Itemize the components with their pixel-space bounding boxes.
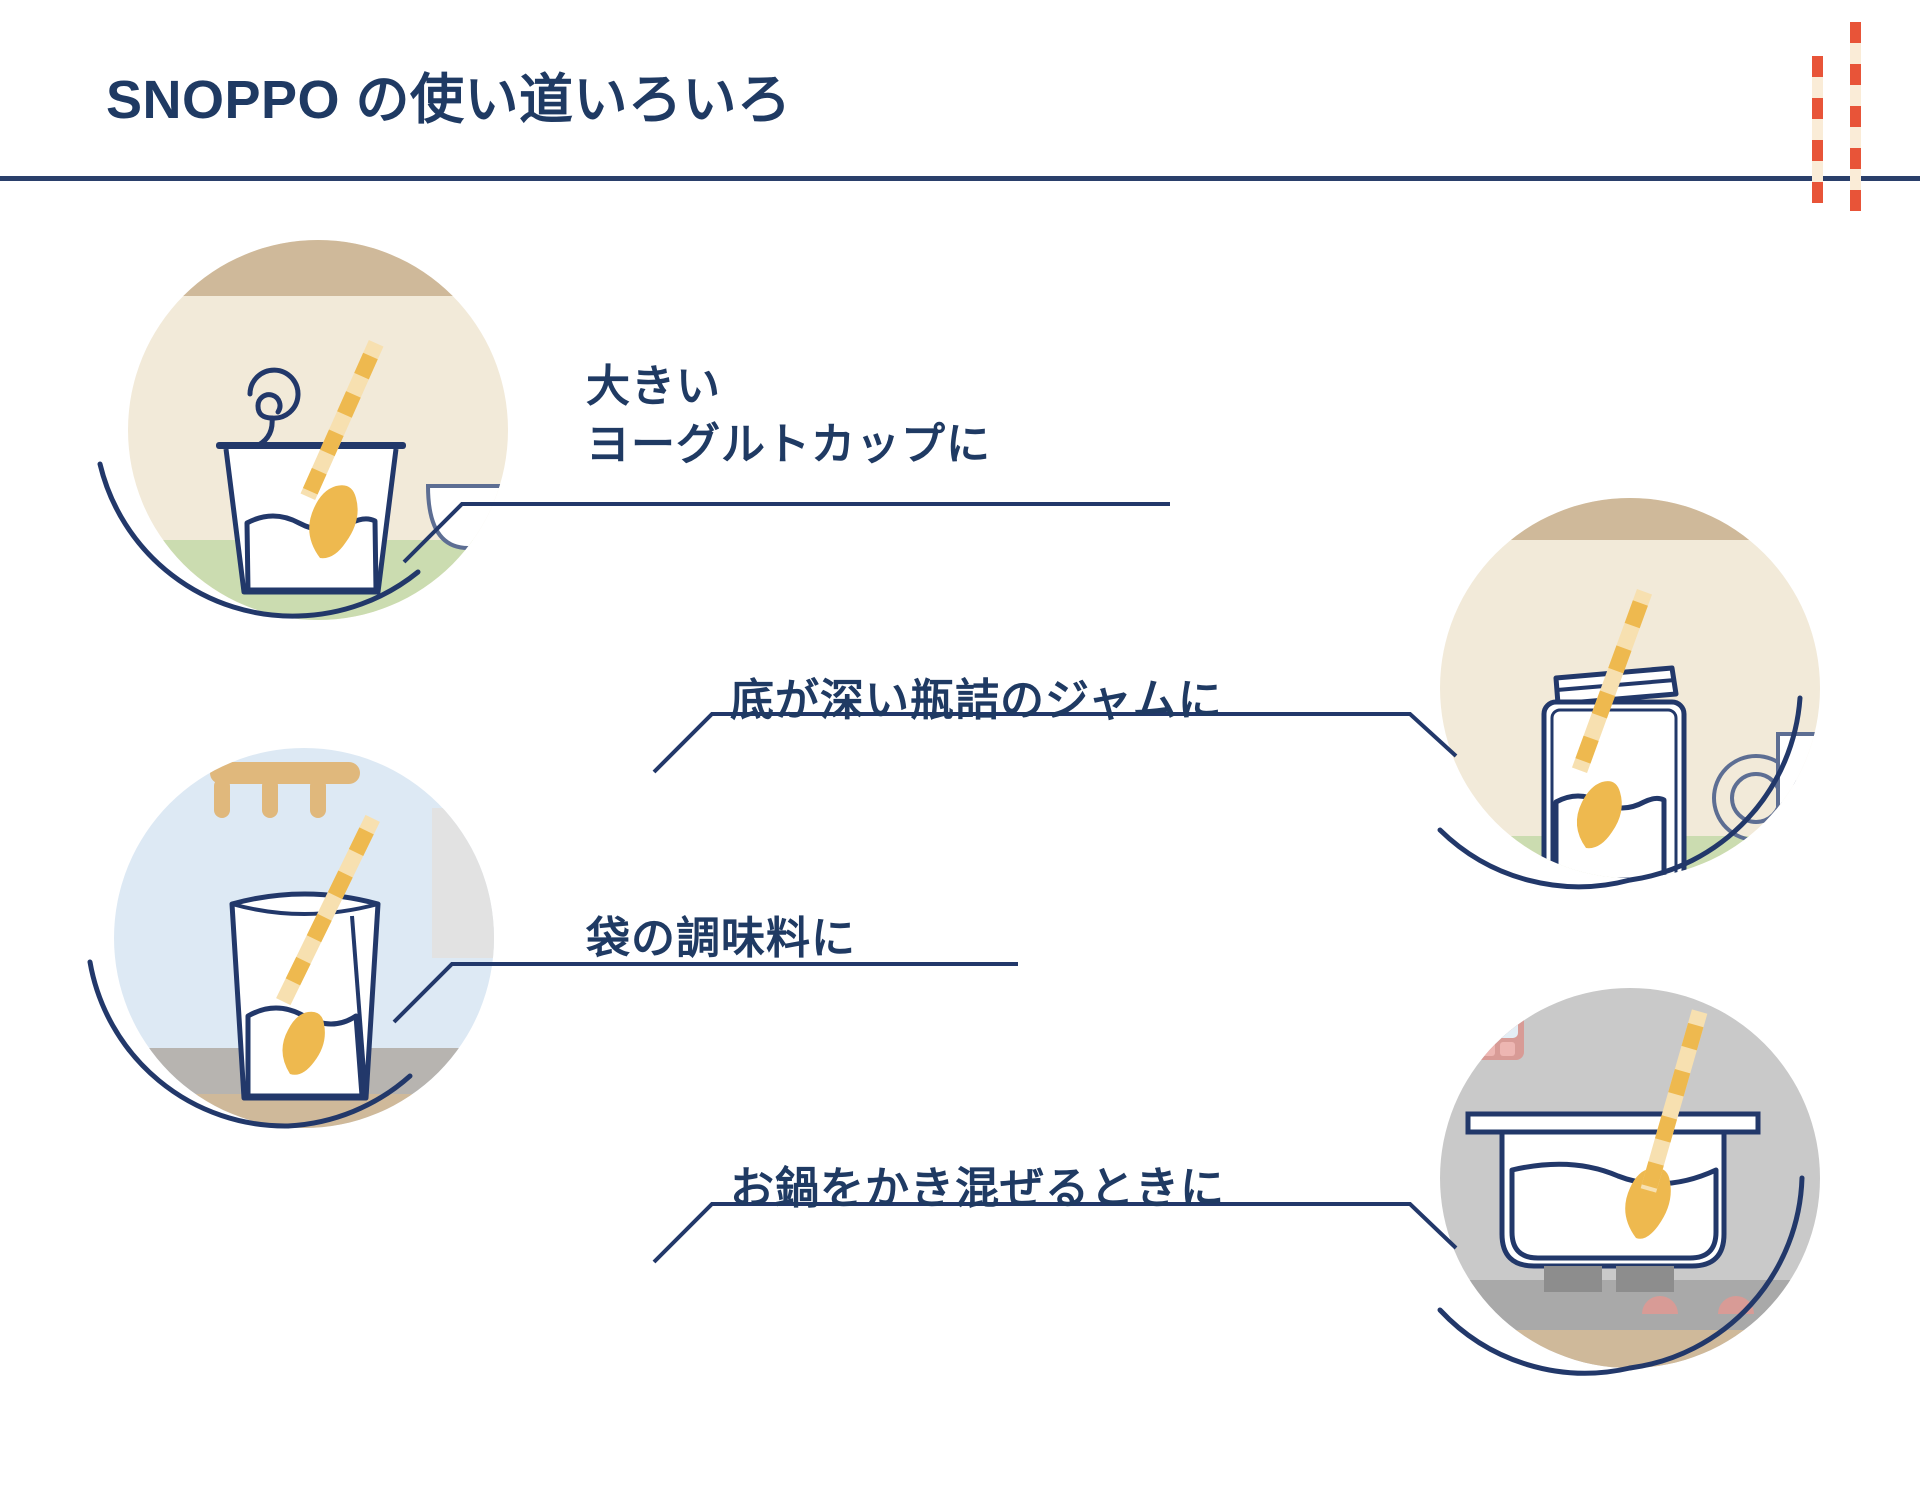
connector-line-1 [400,500,1200,570]
circle-outline-arc-2 [1400,490,1880,890]
label-jam-jar: 底が深い瓶詰のジャムに [730,672,1223,730]
circle-outline-arc-1 [88,232,548,632]
circle-outline-arc-3 [78,742,548,1142]
label-yogurt-cup: 大きい ヨーグルトカップに [586,358,991,474]
header-divider [0,176,1920,181]
connector-line-3 [390,960,1050,1030]
orange-dashed-bar-right [1850,22,1861,211]
slide-root: SNOPPO の使い道いろいろ [0,0,1920,1488]
label-seasoning-pouch: 袋の調味料に [586,910,856,968]
label-cooking-pot: お鍋をかき混ぜるときに [730,1160,1225,1218]
page-title: SNOPPO の使い道いろいろ [106,55,792,134]
orange-dashed-bar-left [1812,56,1823,203]
circle-outline-arc-4 [1400,980,1880,1380]
